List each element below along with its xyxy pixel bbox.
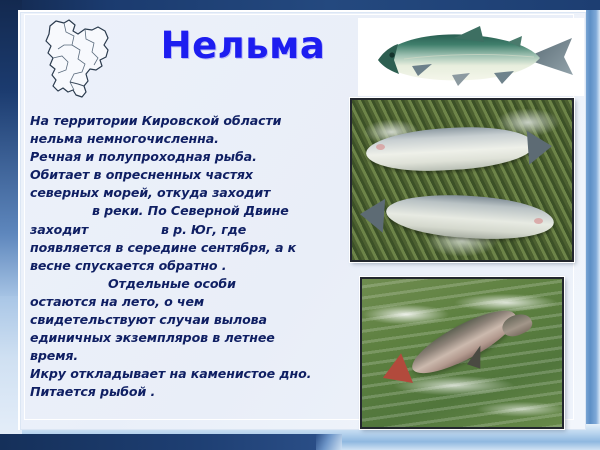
body-line: На территории Кировской области — [30, 112, 338, 130]
body-line: остаются на лето, о чем — [30, 293, 338, 311]
fish-shape — [365, 124, 535, 175]
fish-tail-shape — [359, 197, 385, 233]
slide-title: Нельма — [128, 24, 358, 67]
presentation-slide: Нельма На территории Кировской области н… — [0, 0, 600, 450]
body-line: весне спускается обратно . — [30, 257, 338, 275]
body-line: Питается рыбой . — [30, 383, 338, 401]
photo-two-fish-on-grass — [350, 98, 574, 262]
photo-leaping-fish — [360, 277, 564, 429]
body-line: Отдельные особи — [30, 275, 338, 293]
photo-fish-illustration — [358, 18, 584, 96]
fish-tail-shape — [527, 129, 553, 165]
body-line: свидетельствуют случаи вылова — [30, 311, 338, 329]
frame-bottom-navy-tip — [316, 434, 342, 450]
body-line: нельма немногочисленна. — [30, 130, 338, 148]
body-line: появляется в середине сентября, а к — [30, 239, 338, 257]
slide-body-text: На территории Кировской области нельма н… — [30, 112, 338, 402]
fish-gill-mark — [376, 144, 385, 150]
kirov-oblast-map-icon — [28, 12, 124, 108]
fish-shape — [405, 300, 523, 384]
fish-shape — [385, 190, 556, 244]
body-line: Речная и полупроходная рыба. — [30, 148, 338, 166]
body-line: Икру откладывает на каменистое дно. — [30, 365, 338, 383]
fish-tail-shape — [377, 353, 413, 392]
body-line: северных морей, откуда заходит — [30, 184, 338, 202]
body-line: Обитает в опресненных частях — [30, 166, 338, 184]
body-line: единичных экземпляров в летнее — [30, 329, 338, 347]
body-line: в реки. По Северной Двине — [30, 202, 338, 220]
body-line: заходит в р. Юг, где — [30, 221, 338, 239]
frame-bottom-navy-band — [0, 434, 330, 450]
fish-gill-mark — [534, 218, 543, 224]
body-line: время. — [30, 347, 338, 365]
